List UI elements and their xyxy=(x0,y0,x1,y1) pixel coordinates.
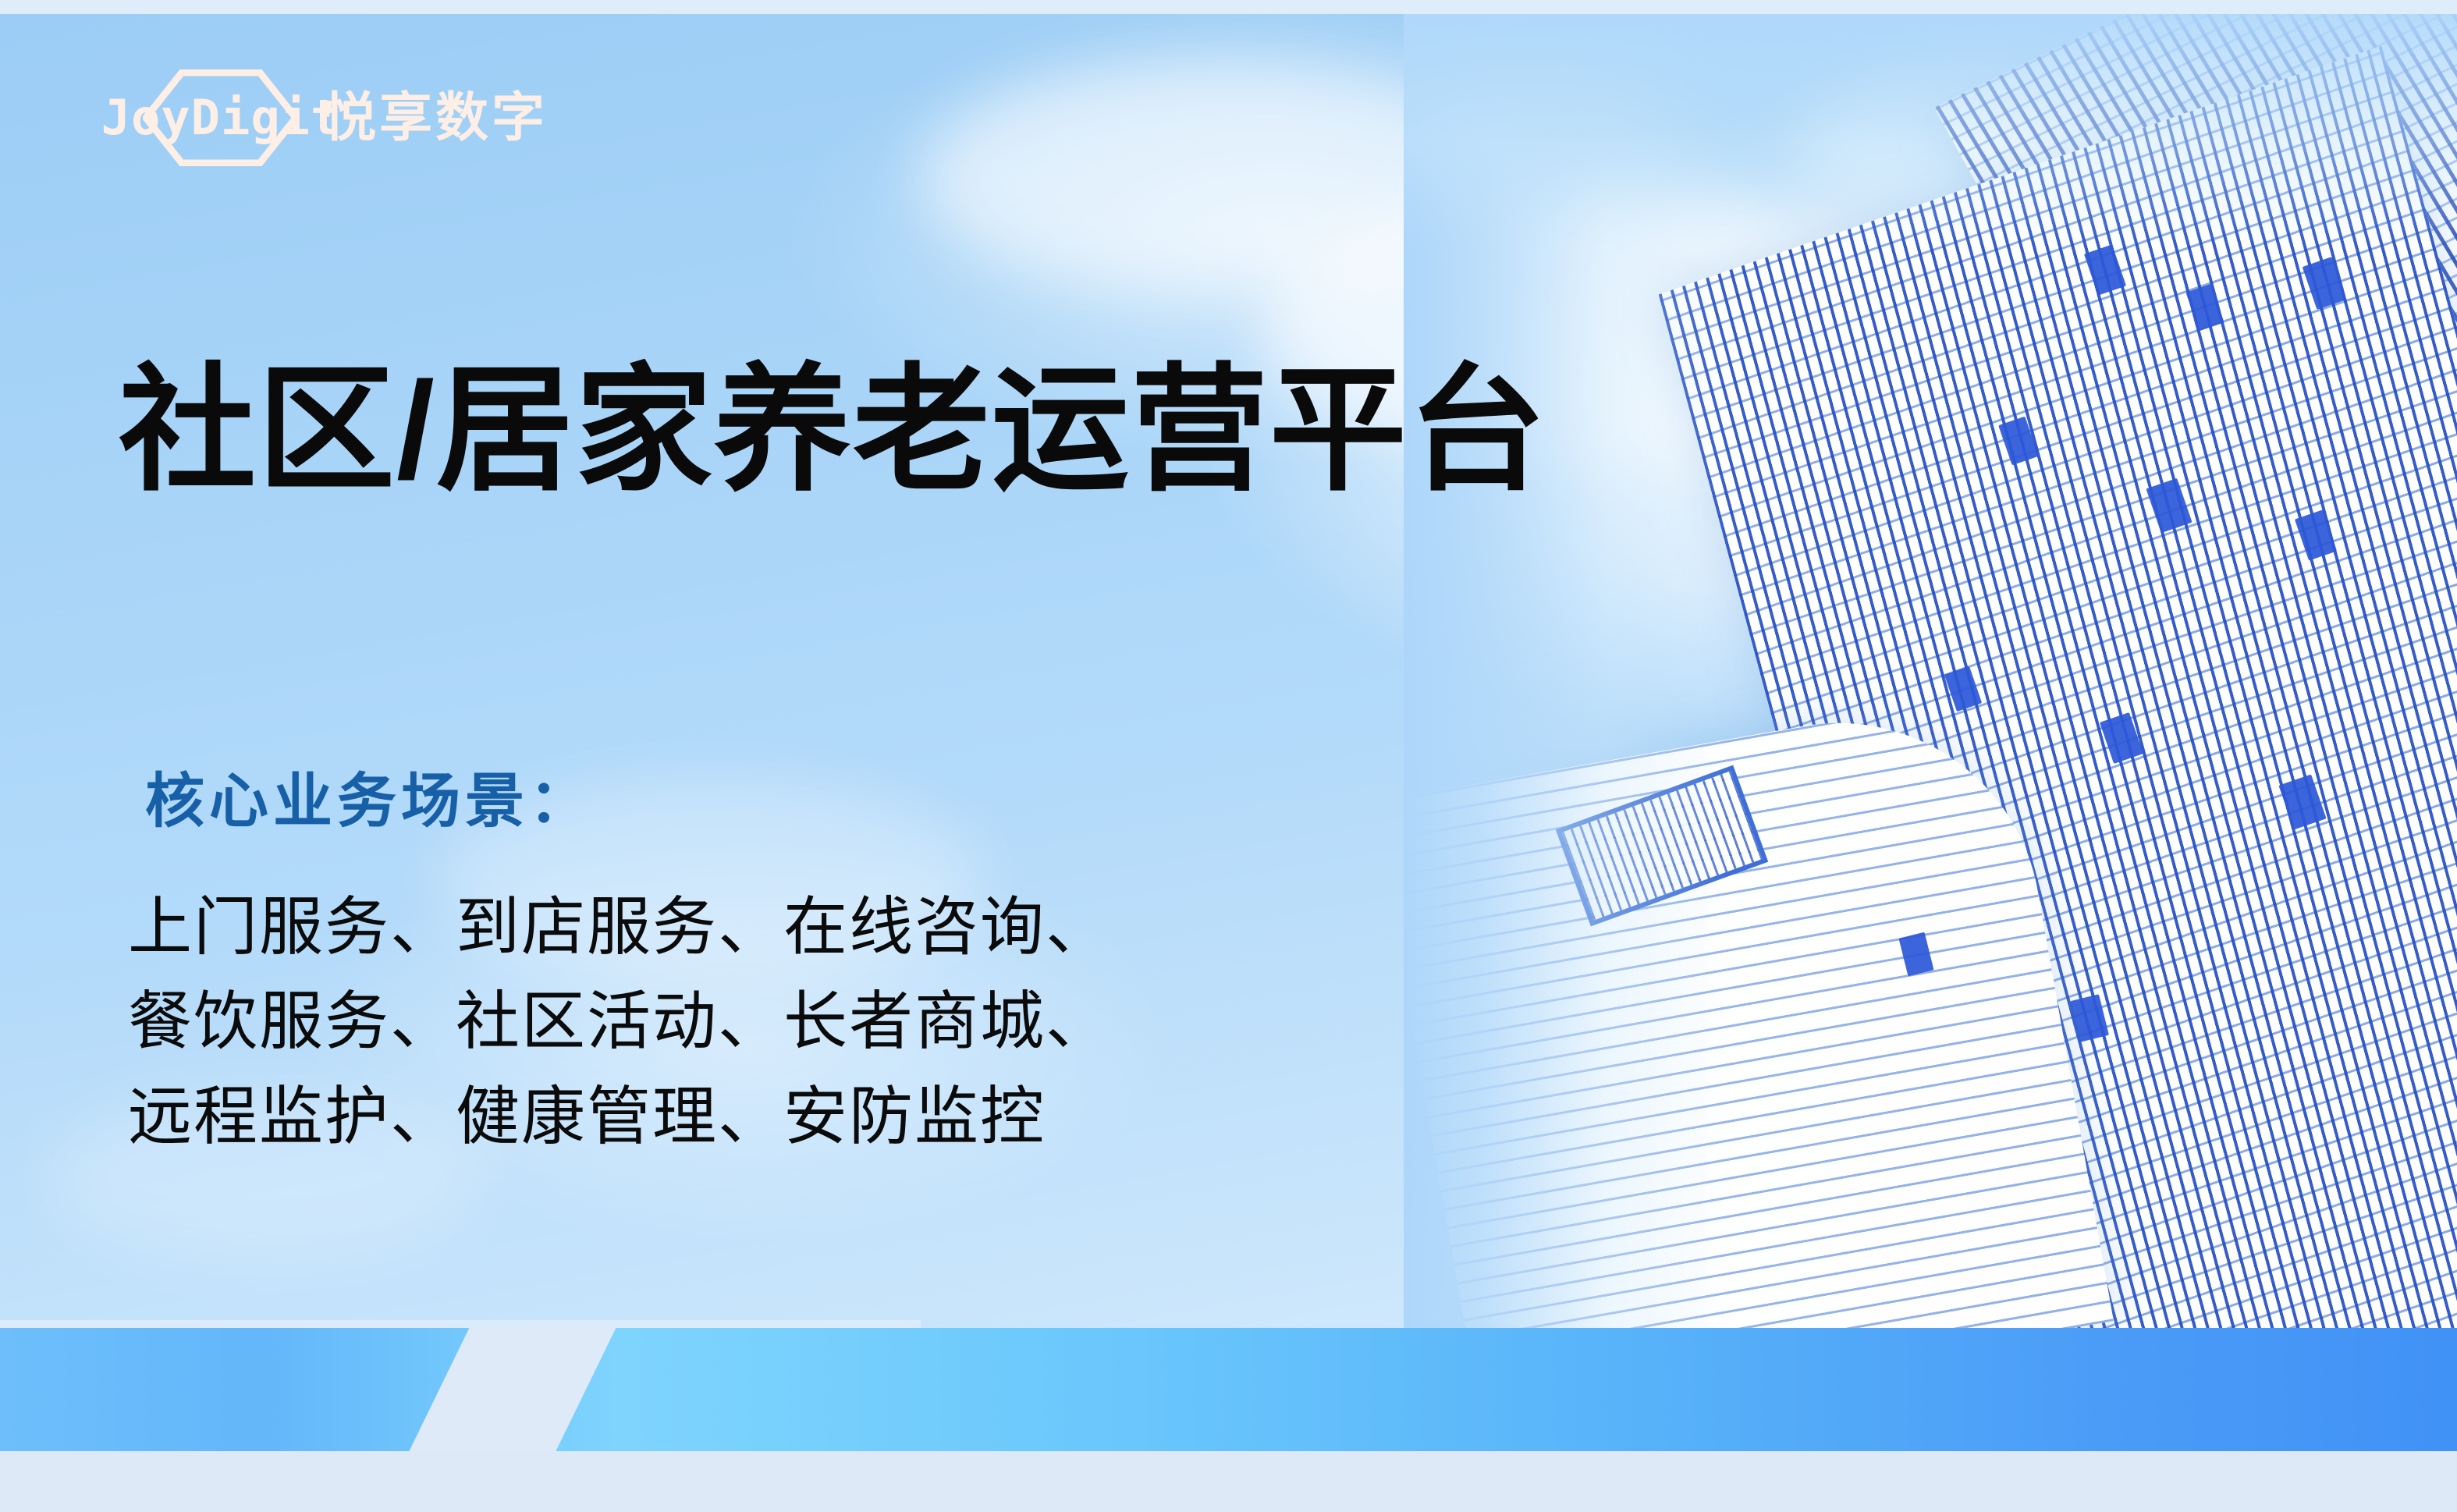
page-title: 社区/居家养老运营平台 xyxy=(119,354,1547,508)
scenario-line: 上门服务、到店服务、在线咨询、 xyxy=(128,880,1111,974)
scenario-line: 远程监护、健康管理、安防监控 xyxy=(128,1070,1111,1164)
skyscraper-photo xyxy=(1404,14,2457,1404)
scenario-line: 餐饮服务、社区活动、长者商城、 xyxy=(128,974,1111,1069)
ribbon-band xyxy=(0,1328,2457,1451)
brand-logo[interactable]: JoyDigit 悦享数字 xyxy=(139,72,548,164)
core-scenarios-list: 上门服务、到店服务、在线咨询、 餐饮服务、社区活动、长者商城、 远程监护、健康管… xyxy=(128,880,1111,1164)
photo-top-fade xyxy=(1404,14,2457,248)
bottom-ribbon xyxy=(0,1328,2457,1451)
slide-canvas: JoyDigit 悦享数字 社区/居家养老运营平台 核心业务场景： 上门服务、到… xyxy=(0,0,2457,1512)
page-bottom-margin xyxy=(0,1451,2457,1512)
logo-wordmark: JoyDigit xyxy=(101,94,341,142)
ribbon-highlight-strip xyxy=(0,1320,921,1328)
core-scenarios-heading: 核心业务场景： xyxy=(145,772,1111,832)
core-scenarios-section: 核心业务场景： 上门服务、到店服务、在线咨询、 餐饮服务、社区活动、长者商城、 … xyxy=(145,772,1111,1164)
page-top-margin xyxy=(0,0,2457,14)
logo-chinese-name: 悦享数字 xyxy=(323,91,548,144)
logo-mark: JoyDigit xyxy=(139,72,303,164)
